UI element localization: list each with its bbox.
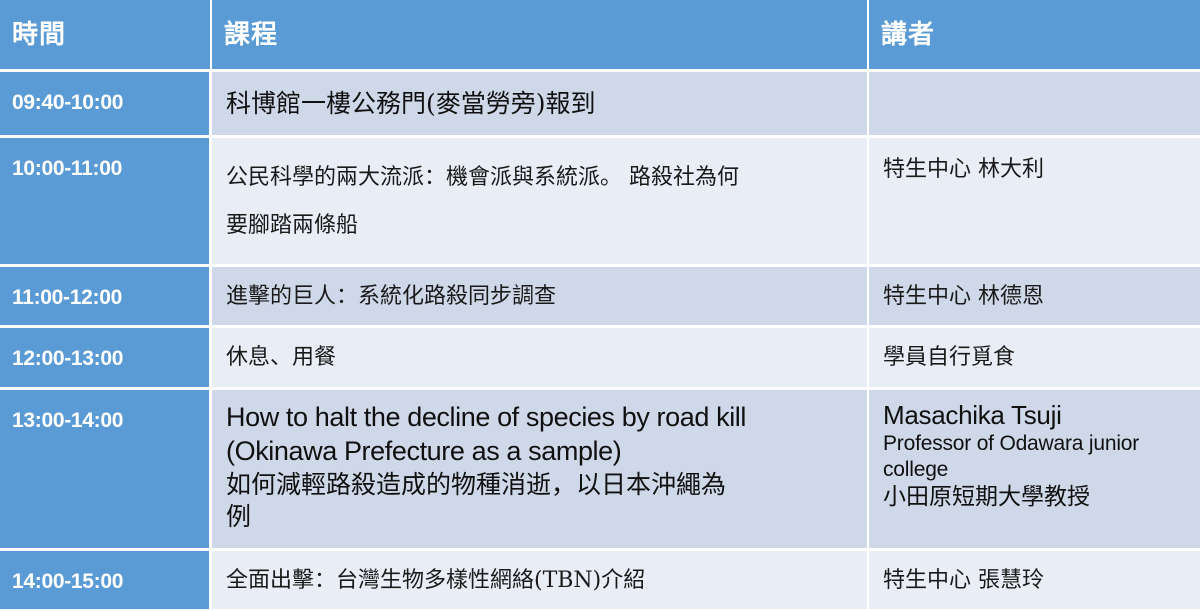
row-course: 進擊的巨人：系統化路殺同步調查 [212, 264, 869, 325]
row-time: 11:00-12:00 [0, 264, 212, 325]
row-course: 休息、用餐 [212, 325, 869, 386]
row-time: 10:00-11:00 [0, 135, 212, 265]
speaker-line: 學員自行覓食 [883, 344, 1190, 372]
column-header-course: 課程 [212, 0, 869, 69]
row-time: 14:00-15:00 [0, 548, 212, 609]
course-line-en: How to halt the decline of species by ro… [226, 400, 857, 435]
column-header-speaker: 講者 [869, 0, 1200, 69]
course-line: 全面出擊：台灣生物多樣性網絡(TBN)介紹 [226, 567, 857, 595]
course-line: 公民科學的兩大流派：機會派與系統派。 路殺社為何 [226, 154, 857, 202]
speaker-line [883, 88, 1190, 89]
speaker-role-line: Professor of Odawara junior [883, 431, 1190, 457]
speaker-name: Masachika Tsuji [883, 400, 1190, 431]
course-line: 要腳踏兩條船 [226, 202, 857, 250]
course-line-en: (Okinawa Prefecture as a sample) [226, 434, 857, 469]
table-row: 11:00-12:00 進擊的巨人：系統化路殺同步調查 特生中心 林德恩 [0, 264, 1200, 325]
row-speaker: 特生中心 張慧玲 [869, 548, 1200, 609]
speaker-role-zh: 小田原短期大學教授 [883, 483, 1190, 513]
speaker-line: 特生中心 林德恩 [883, 283, 1190, 311]
row-course: 科博館一樓公務門(麥當勞旁)報到 [212, 69, 869, 135]
speaker-role-line: college [883, 457, 1190, 483]
course-line-zh: 如何減輕路殺造成的物種消逝，以日本沖繩為 [226, 469, 857, 502]
row-speaker: Masachika Tsuji Professor of Odawara jun… [869, 387, 1200, 548]
row-time: 12:00-13:00 [0, 325, 212, 386]
row-speaker: 特生中心 林大利 [869, 135, 1200, 265]
course-line: 休息、用餐 [226, 344, 857, 372]
row-course: 全面出擊：台灣生物多樣性網絡(TBN)介紹 [212, 548, 869, 609]
table-body: 09:40-10:00 科博館一樓公務門(麥當勞旁)報到 10:00-11:00… [0, 69, 1200, 609]
course-line: 進擊的巨人：系統化路殺同步調查 [226, 283, 857, 311]
row-speaker: 特生中心 林德恩 [869, 264, 1200, 325]
schedule-table: 時間 課程 講者 09:40-10:00 科博館一樓公務門(麥當勞旁)報到 10… [0, 0, 1200, 609]
course-line: 科博館一樓公務門(麥當勞旁)報到 [226, 89, 596, 118]
table-header: 時間 課程 講者 [0, 0, 1200, 69]
table-row: 09:40-10:00 科博館一樓公務門(麥當勞旁)報到 [0, 69, 1200, 135]
column-header-time: 時間 [0, 0, 212, 69]
header-row: 時間 課程 講者 [0, 0, 1200, 69]
row-course: 公民科學的兩大流派：機會派與系統派。 路殺社為何 要腳踏兩條船 [212, 135, 869, 265]
table-row: 10:00-11:00 公民科學的兩大流派：機會派與系統派。 路殺社為何 要腳踏… [0, 135, 1200, 265]
course-line-zh: 例 [226, 501, 857, 534]
row-course: How to halt the decline of species by ro… [212, 387, 869, 548]
table-row: 14:00-15:00 全面出擊：台灣生物多樣性網絡(TBN)介紹 特生中心 張… [0, 548, 1200, 609]
row-time: 09:40-10:00 [0, 69, 212, 135]
row-speaker: 學員自行覓食 [869, 325, 1200, 386]
row-speaker [869, 69, 1200, 135]
table-row: 12:00-13:00 休息、用餐 學員自行覓食 [0, 325, 1200, 386]
row-time: 13:00-14:00 [0, 387, 212, 548]
table-row: 13:00-14:00 How to halt the decline of s… [0, 387, 1200, 548]
speaker-line: 特生中心 張慧玲 [883, 567, 1190, 595]
speaker-line: 特生中心 林大利 [883, 156, 1190, 184]
